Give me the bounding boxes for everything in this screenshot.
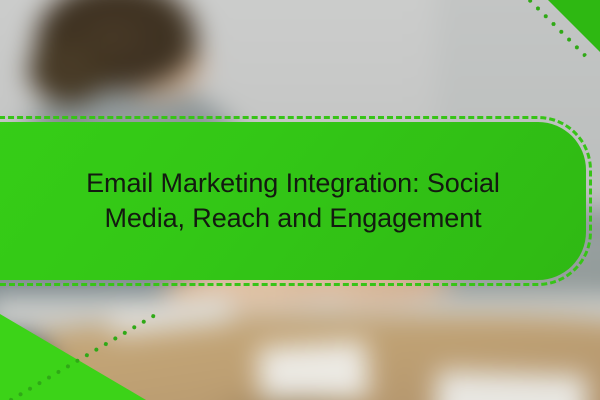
page-title-line-1: Email Marketing Integration: Social bbox=[78, 166, 508, 201]
page-title-line-2: Media, Reach and Engagement bbox=[78, 201, 508, 236]
photo-paper-1 bbox=[257, 340, 370, 400]
corner-triangle-bottom-left bbox=[0, 314, 146, 400]
page-title: Email Marketing Integration: Social Medi… bbox=[78, 166, 508, 236]
screenshot-stage: Email Marketing Integration: Social Medi… bbox=[0, 0, 600, 400]
title-banner: Email Marketing Integration: Social Medi… bbox=[0, 122, 586, 280]
photo-paper-2 bbox=[435, 370, 587, 400]
banner-surface: Email Marketing Integration: Social Medi… bbox=[0, 122, 586, 280]
photo-person-hair-back bbox=[28, 37, 110, 104]
